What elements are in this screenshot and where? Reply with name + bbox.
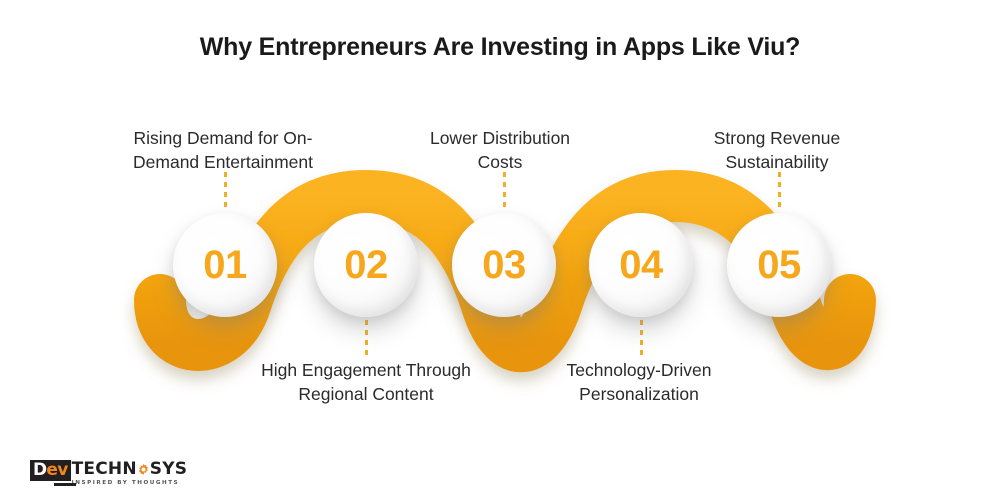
step-label-3: Lower Distribution Costs	[410, 126, 590, 174]
step-label-4: Technology-Driven Personalization	[529, 358, 749, 406]
connector-dash-step-2	[365, 320, 368, 360]
step-label-5: Strong Revenue Sustainability	[687, 126, 867, 174]
gear-icon	[138, 464, 149, 475]
logo-dev-badge: Dev	[30, 460, 71, 481]
logo-wordmark: TECHN SYS	[72, 460, 188, 479]
step-node-3[interactable]: 03	[452, 213, 556, 317]
step-number-3: 03	[482, 245, 526, 285]
step-number-1: 01	[203, 245, 247, 285]
logo-word-right: SYS	[150, 460, 187, 479]
logo-dev-ev: ev	[46, 460, 67, 480]
step-node-5[interactable]: 05	[727, 213, 831, 317]
connector-dash-step-5	[778, 172, 781, 212]
step-number-5: 05	[757, 245, 801, 285]
connector-dash-step-3	[503, 172, 506, 212]
logo-tagline: INSPIRED BY THOUGHTS	[72, 480, 188, 486]
logo-dev-d: D	[33, 460, 46, 480]
brand-logo[interactable]: Dev TECHN SYS INSPIRED BY THOUGHTS	[30, 460, 187, 486]
logo-word-left: TECHN	[72, 460, 137, 479]
step-label-2: High Engagement Through Regional Content	[236, 358, 496, 406]
step-node-1[interactable]: 01	[173, 213, 277, 317]
infographic-canvas: Why Entrepreneurs Are Investing in Apps …	[0, 0, 1000, 500]
step-label-1: Rising Demand for On-Demand Entertainmen…	[108, 126, 338, 174]
logo-stand-bar	[54, 483, 76, 486]
step-number-2: 02	[344, 245, 388, 285]
connector-dash-step-4	[640, 320, 643, 360]
step-node-2[interactable]: 02	[314, 213, 418, 317]
step-node-4[interactable]: 04	[589, 213, 693, 317]
step-number-4: 04	[619, 245, 663, 285]
connector-dash-step-1	[224, 172, 227, 212]
